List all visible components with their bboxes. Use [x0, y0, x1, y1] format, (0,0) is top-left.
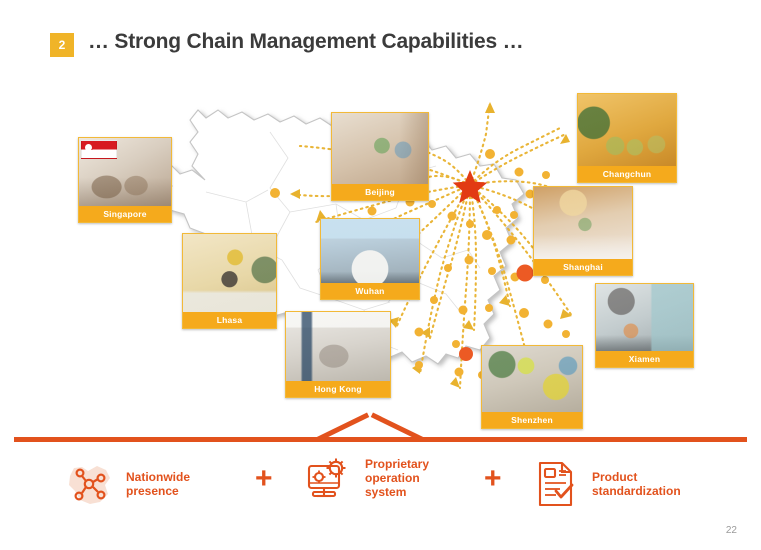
city-photo-hongkong [286, 312, 390, 381]
pillar-line2: presence [126, 484, 190, 498]
pillar-proprietary-operation-system[interactable]: Proprietary operation system [303, 452, 429, 504]
city-photo-xiamen [596, 284, 693, 351]
city-card-changchun[interactable]: Changchun [577, 93, 677, 183]
city-card-beijing[interactable]: Beijing [331, 112, 429, 201]
plus-separator-2: + [484, 464, 502, 494]
city-label-xiamen: Xiamen [596, 351, 693, 367]
city-label-beijing: Beijing [332, 184, 428, 200]
city-photo-lhasa [183, 234, 276, 312]
plus-separator-1: + [255, 464, 273, 494]
pillar-nationwide-presence[interactable]: Nationwide presence [64, 458, 190, 510]
city-label-singapore: Singapore [79, 206, 171, 222]
pillar-line2: operation [365, 471, 429, 485]
pillar-line1: Nationwide [126, 470, 190, 484]
city-card-hongkong[interactable]: Hong Kong [285, 311, 391, 398]
city-label-wuhan: Wuhan [321, 283, 419, 299]
city-label-shenzhen: Shenzhen [482, 412, 582, 428]
pillar-line2: standardization [592, 484, 681, 498]
section-number-badge: 2 [50, 33, 74, 57]
city-photo-changchun [578, 94, 676, 166]
divider-chevron [322, 414, 418, 442]
document-check-icon [530, 458, 582, 510]
city-card-wuhan[interactable]: Wuhan [320, 218, 420, 300]
pillar-label-product: Product standardization [592, 470, 681, 498]
city-card-lhasa[interactable]: Lhasa [182, 233, 277, 329]
city-card-shenzhen[interactable]: Shenzhen [481, 345, 583, 429]
page-number: 22 [726, 525, 737, 536]
city-photo-singapore [79, 138, 171, 206]
city-label-shanghai: Shanghai [534, 259, 632, 275]
pillar-label-nationwide: Nationwide presence [126, 470, 190, 498]
singapore-flag-icon [81, 140, 117, 159]
slide: 2 … Strong Chain Management Capabilities… [0, 0, 761, 550]
city-label-hongkong: Hong Kong [286, 381, 390, 397]
monitor-gears-icon [303, 452, 355, 504]
city-photo-shanghai [534, 187, 632, 259]
pillar-line1: Product [592, 470, 681, 484]
city-card-singapore[interactable]: Singapore [78, 137, 172, 223]
city-label-lhasa: Lhasa [183, 312, 276, 328]
china-network-icon [64, 458, 116, 510]
slide-header: 2 … Strong Chain Management Capabilities… [0, 12, 761, 60]
pillar-line3: system [365, 485, 429, 499]
pillar-line1: Proprietary [365, 457, 429, 471]
capability-pillars: Nationwide presence + [0, 450, 761, 520]
city-photo-beijing [332, 113, 428, 184]
city-photo-shenzhen [482, 346, 582, 412]
pillar-label-proprietary: Proprietary operation system [365, 457, 429, 499]
page-title: … Strong Chain Management Capabilities … [88, 30, 523, 54]
city-card-xiamen[interactable]: Xiamen [595, 283, 694, 368]
map-stage: Singapore Beijing Changchun Lhasa Wuhan [0, 62, 761, 422]
city-photo-wuhan [321, 219, 419, 283]
pillar-product-standardization[interactable]: Product standardization [530, 458, 681, 510]
city-label-changchun: Changchun [578, 166, 676, 182]
city-card-shanghai[interactable]: Shanghai [533, 186, 633, 276]
